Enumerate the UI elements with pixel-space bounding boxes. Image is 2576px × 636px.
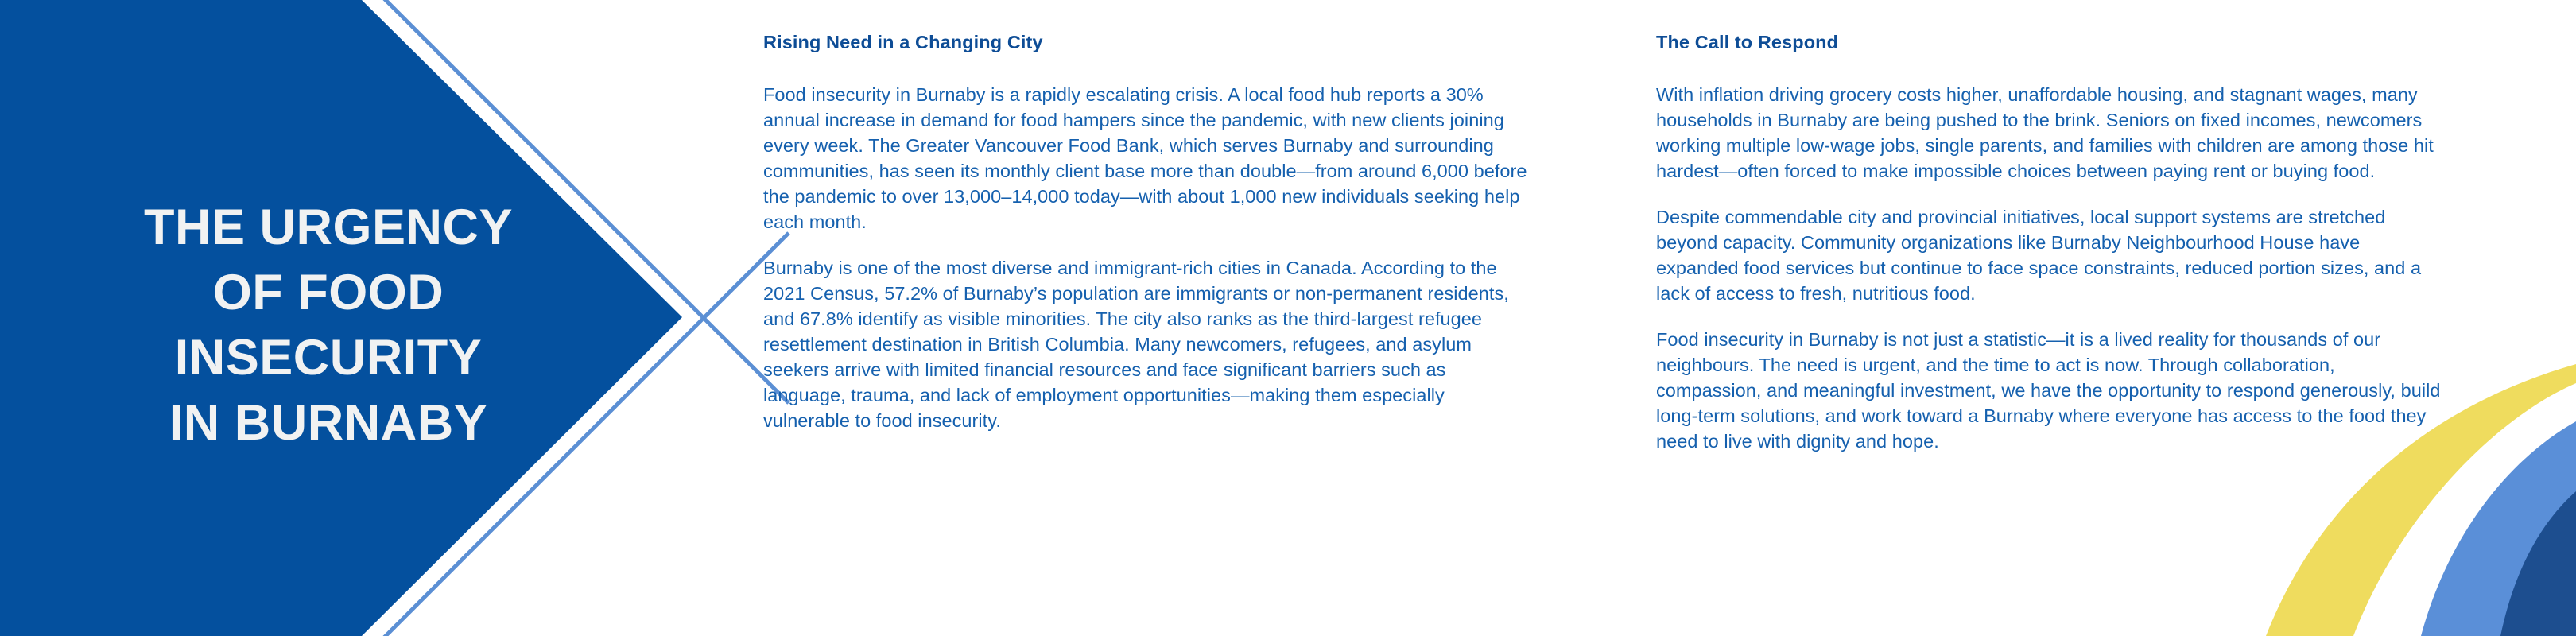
column-paragraph: Despite commendable city and provincial … [1656,204,2443,306]
column-rising-need: Rising Need in a Changing City Food inse… [763,30,1530,619]
content-columns: Rising Need in a Changing City Food inse… [763,30,2481,619]
column-heading: The Call to Respond [1656,30,2443,55]
column-paragraph: Burnaby is one of the most diverse and i… [763,255,1530,433]
column-call-to-respond: The Call to Respond With inflation drivi… [1656,30,2443,619]
poster-canvas: THE URGENCY OF FOOD INSECURITY IN BURNAB… [0,0,2576,636]
column-paragraph: Food insecurity in Burnaby is a rapidly … [763,82,1530,235]
page-title: THE URGENCY OF FOOD INSECURITY IN BURNAB… [24,196,633,456]
column-paragraph: With inflation driving grocery costs hig… [1656,82,2443,184]
swoosh-navy-corner [2500,491,2576,636]
column-heading: Rising Need in a Changing City [763,30,1530,55]
hero-panel: THE URGENCY OF FOOD INSECURITY IN BURNAB… [0,0,684,636]
column-paragraph: Food insecurity in Burnaby is not just a… [1656,327,2443,454]
